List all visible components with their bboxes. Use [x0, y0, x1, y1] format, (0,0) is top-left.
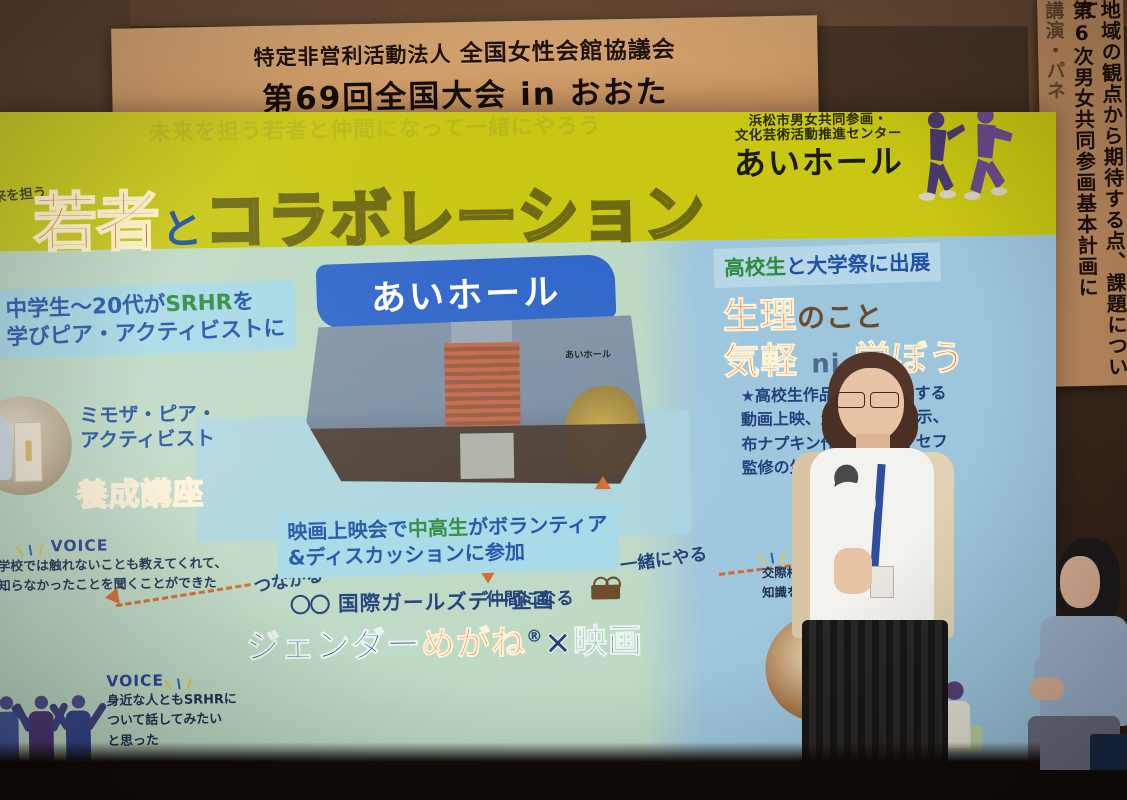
- seated-person: [1034, 538, 1127, 800]
- gender-title-part-2: めがね: [421, 622, 527, 664]
- headline-nokoto: のこと: [797, 301, 884, 334]
- girls-day-label: 国際ガールズデー企画: [338, 584, 555, 617]
- mimosa-line-1: ミモザ・ピア・: [79, 401, 216, 428]
- film-projector-icon: [591, 576, 626, 601]
- mimosa-workshop-photo: [0, 395, 73, 495]
- voice-testimonial-1: VOICE 学校では触れないことも教えてくれて、 知らなかったことを聞くことがで…: [0, 534, 228, 596]
- seated-person-face: [1060, 556, 1100, 608]
- photo-person: [0, 414, 13, 480]
- right-caption-highschool: 高校生: [724, 254, 787, 281]
- sparkle-icon: [20, 537, 47, 556]
- speaker-presenter: [786, 352, 976, 800]
- banner-org-name: 全国女性会館協議会: [460, 36, 676, 66]
- mimosa-course-title: 養成講座: [76, 468, 204, 515]
- building-louvers: [444, 342, 520, 427]
- gender-glasses-title: ジェンダーめがね®×映画: [246, 613, 644, 669]
- left-caption-1a: 中学生〜20代が: [5, 292, 166, 322]
- center-caption-students: 中高生: [407, 516, 468, 541]
- gender-title-part-1: ジェンダー: [246, 624, 422, 667]
- banner-org-type: 特定非営利活動法人: [253, 42, 451, 70]
- building-sign-label: あいホール: [565, 347, 612, 361]
- headline-seiri: 生理: [723, 296, 798, 338]
- left-caption-box: 中学生〜20代がSRHRを 学びピア・アクティビストに: [0, 280, 296, 358]
- gender-title-part-3: ×映画: [543, 620, 643, 662]
- building-entrance: [459, 433, 514, 479]
- banner-line-1: 特定非営利活動法人 全国女性会館協議会: [253, 29, 676, 71]
- right-caption-line: 高校生と大学祭に出展: [724, 249, 931, 282]
- eyeglasses-icon: [836, 392, 906, 408]
- girls-day-line: 国際ガールズデー企画: [290, 584, 554, 618]
- slide-org-block: 浜松市男女共同参画・ 文化芸術活動推進センター あいホール: [733, 113, 904, 182]
- left-caption-1c: を: [232, 289, 254, 314]
- mimosa-line-2: アクティビスト: [80, 426, 217, 453]
- side-banner-col-3: 講演・パネ: [1043, 0, 1065, 100]
- slide-header-band: 未来を担う若者と仲間になって一緒にやろう 未来を担う 若者 と コラボレーション…: [0, 112, 1056, 252]
- center-caption-box: 映画上映会で中高生がボランティア &ディスカッションに参加: [277, 505, 619, 578]
- right-caption-box: 高校生と大学祭に出展: [713, 242, 941, 288]
- glasses-icon: [290, 594, 329, 611]
- org-name: あいホール: [734, 144, 904, 182]
- title-particle: と: [161, 196, 203, 256]
- photo-poster: [14, 422, 43, 482]
- hall-building-photo: あいホール: [305, 308, 648, 488]
- arrow-head-left: [104, 588, 120, 606]
- mimosa-program-text: ミモザ・ピア・ アクティビスト: [79, 401, 217, 453]
- registered-mark: ®: [526, 626, 544, 646]
- sparkle-icon: [168, 671, 195, 690]
- slide-header-ghost-text: 未来を担う若者と仲間になって一緒にやろう: [149, 112, 767, 143]
- photo-scene: 特定非営利活動法人 全国女性会館協議会 第69回全国大会 in おおた 地域の観…: [0, 0, 1127, 800]
- left-caption-srhr: SRHR: [165, 289, 233, 316]
- banner-line-2: 第69回全国大会 in おおた: [262, 66, 669, 119]
- side-banner-col-2: 第6次男女共同参画基本計画に: [1070, 0, 1097, 298]
- right-caption-rest: と大学祭に出展: [786, 250, 931, 279]
- speaker-name-badge: [870, 566, 894, 598]
- sparkle-icon: [761, 545, 788, 564]
- slide-main-title: 若者 と コラボレーション: [32, 161, 706, 264]
- center-caption-1c: がボランティア: [468, 512, 608, 539]
- title-word-collaboration: コラボレーション: [204, 164, 707, 261]
- arrow-head-up: [595, 476, 612, 490]
- right-headline-line-1: 生理のこと: [723, 293, 965, 338]
- org-subtitle-2: 文化芸術活動推進センター: [733, 127, 903, 144]
- voice-label: VOICE: [51, 536, 109, 555]
- speaker-hand: [834, 548, 872, 594]
- hall-title-brush: あいホール: [316, 254, 617, 329]
- runners-illustration: [905, 112, 1020, 226]
- center-caption-1a: 映画上映会で: [287, 517, 408, 544]
- star-icon: ★: [740, 387, 755, 406]
- title-word-youth: 若者: [32, 170, 159, 265]
- stage-floor: [0, 770, 1127, 800]
- hall-title-text: あいホール: [316, 254, 617, 329]
